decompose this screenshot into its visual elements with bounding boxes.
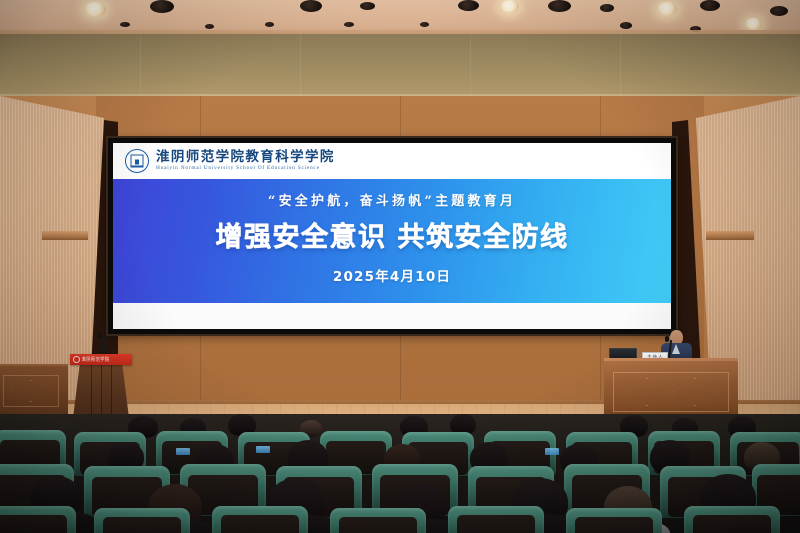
slide-title: 增强安全意识 共筑安全防线 [216, 215, 569, 254]
ceiling-speaker-hole [265, 22, 274, 27]
podium-microphone-icon [98, 333, 102, 339]
auditorium-seat [330, 508, 426, 533]
podium-banner-text: 淮阴师范学院 [82, 356, 110, 363]
projection-screen-frame: 淮阴师范学院教育科学学院 Huaiyin Normal University S… [108, 138, 676, 334]
ceiling-speaker-hole [420, 22, 429, 27]
auditorium-seat [448, 506, 544, 533]
phone-screen-glow [176, 448, 190, 455]
desk-diamond-inlay [624, 378, 670, 406]
auditorium-seat [566, 508, 662, 533]
desk-microphone-icon [665, 336, 669, 342]
upper-wall-soffit [0, 34, 800, 100]
ceiling-speaker-hole [700, 0, 720, 11]
ceiling-speaker-hole [620, 22, 632, 29]
podium-banner: 淮阴师范学院 [70, 354, 132, 365]
slide-date: 2025年4月10日 [333, 265, 451, 285]
left-wall-shelf [42, 231, 88, 240]
ceiling-speaker-hole [548, 0, 571, 12]
ceiling-speaker-hole [600, 4, 614, 12]
auditorium-seat [94, 508, 190, 533]
institution-name-cn: 淮阴师范学院教育科学学院 [156, 150, 335, 164]
auditorium-seat [212, 506, 308, 533]
auditorium-seat [684, 506, 780, 533]
slide-header: 淮阴师范学院教育科学学院 Huaiyin Normal University S… [113, 143, 671, 179]
ceiling-light [657, 2, 677, 16]
auditorium-seat [0, 506, 76, 533]
speaker-desk [604, 358, 738, 420]
phone-screen-glow [545, 448, 559, 455]
ceiling-light [745, 18, 762, 30]
podium-seal-icon [73, 356, 80, 363]
ceiling-speaker-hole [120, 22, 130, 27]
slide-body: “安全护航，奋斗扬帆”主题教育月 增强安全意识 共筑安全防线 2025年4月10… [113, 179, 671, 303]
ceiling-speaker-hole [344, 22, 354, 27]
cabinet-diamond-inlay [11, 380, 51, 402]
ceiling-light [84, 2, 106, 17]
desk-diamond-inlay [672, 378, 718, 406]
ceiling-speaker-hole [150, 0, 174, 13]
slide-footer [113, 303, 671, 329]
projection-screen: 淮阴师范学院教育科学学院 Huaiyin Normal University S… [113, 143, 671, 329]
slide-subtitle: “安全护航，奋斗扬帆”主题教育月 [268, 190, 516, 209]
ceiling-speaker-hole [360, 2, 375, 10]
auditorium-scene: 淮阴师范学院教育科学学院 Huaiyin Normal University S… [0, 0, 800, 533]
ceiling-speaker-hole [770, 6, 788, 16]
university-seal-logo-icon [125, 149, 149, 173]
phone-screen-glow [256, 446, 270, 453]
right-wall-shelf [706, 231, 754, 240]
ceiling-speaker-hole [300, 0, 322, 12]
ceiling-speaker-hole [205, 24, 214, 29]
desk-front-panel [613, 372, 729, 412]
institution-name-en: Huaiyin Normal University School Of Educ… [156, 166, 335, 172]
audience-area [0, 414, 800, 533]
left-wooden-cabinet [0, 364, 68, 414]
cabinet-panel [3, 375, 59, 407]
ceiling-speaker-hole [458, 0, 479, 11]
ceiling-light [500, 0, 519, 13]
